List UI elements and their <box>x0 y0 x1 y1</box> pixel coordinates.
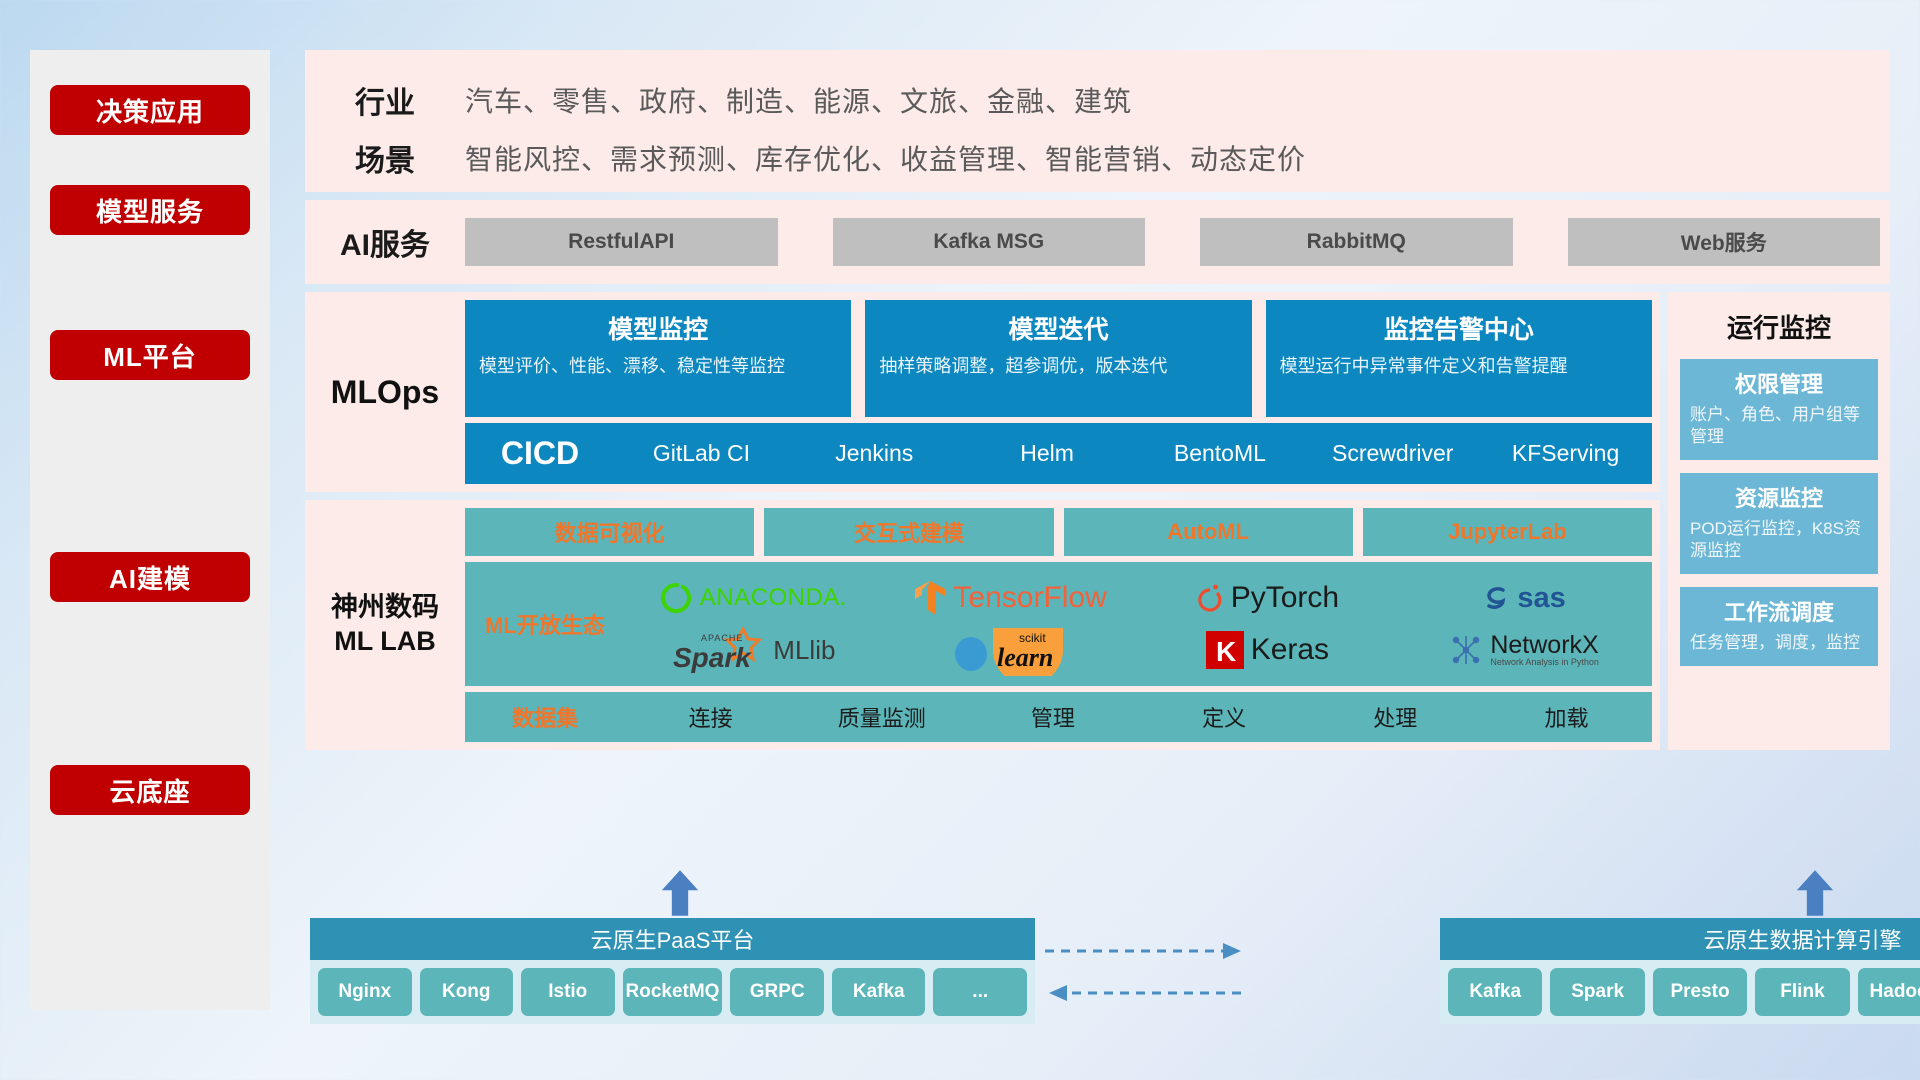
scikit-learn-icon: scikit learn <box>989 624 1067 676</box>
rail-chip-cloud-base[interactable]: 云底座 <box>50 765 250 815</box>
sas-icon <box>1481 583 1511 613</box>
ml-lab-label-line2: ML LAB <box>334 625 436 659</box>
engine-chip-kafka[interactable]: Kafka <box>1448 968 1542 1016</box>
rail-chip-ml-platform[interactable]: ML平台 <box>50 330 250 380</box>
spark-mllib-logo: APACHE Spark MLlib <box>671 627 835 673</box>
engine-chip-presto[interactable]: Presto <box>1653 968 1747 1016</box>
cicd-item-screwdriver[interactable]: Screwdriver <box>1306 442 1479 465</box>
monitor-card-workflow[interactable]: 工作流调度 任务管理，调度，监控 <box>1680 587 1878 666</box>
networkx-icon <box>1448 632 1484 668</box>
ml-ecosystem-row: ML开放生态 ANACONDA. <box>465 562 1652 686</box>
engine-chip-flink[interactable]: Flink <box>1755 968 1849 1016</box>
mllab-tab-interactive[interactable]: 交互式建模 <box>764 508 1053 556</box>
cicd-item-helm[interactable]: Helm <box>961 442 1134 465</box>
cicd-item-kfserving[interactable]: KFServing <box>1479 442 1652 465</box>
scenario-row: 场景 智能风控、需求预测、库存优化、收益管理、智能营销、动态定价 <box>305 132 1890 184</box>
anaconda-logo: ANACONDA. <box>660 581 847 615</box>
ai-service-label: AI服务 <box>305 220 465 264</box>
industry-value: 汽车、零售、政府、制造、能源、文旅、金融、建筑 <box>465 80 1132 120</box>
pytorch-logo: PyTorch <box>1195 581 1339 615</box>
dataset-label: 数据集 <box>465 701 625 733</box>
mlops-card-model-iteration[interactable]: 模型迭代 抽样策略调整，超参调优，版本迭代 <box>865 300 1251 417</box>
ai-service-web[interactable]: Web服务 <box>1568 218 1881 266</box>
cicd-item-gitlab-ci[interactable]: GitLab CI <box>615 442 788 465</box>
card-desc: 任务管理，调度，监控 <box>1690 632 1868 654</box>
scenario-value: 智能风控、需求预测、库存优化、收益管理、智能营销、动态定价 <box>465 138 1306 178</box>
card-title: 工作流调度 <box>1690 595 1868 627</box>
ai-service-restful-api[interactable]: RestfulAPI <box>465 218 778 266</box>
ai-service-kafka-msg[interactable]: Kafka MSG <box>833 218 1146 266</box>
mlops-label: MLOps <box>305 300 465 484</box>
cicd-item-jenkins[interactable]: Jenkins <box>788 442 961 465</box>
dataset-item-load[interactable]: 加载 <box>1481 701 1652 733</box>
dataset-item-define[interactable]: 定义 <box>1139 701 1310 733</box>
monitor-card-permission[interactable]: 权限管理 账户、角色、用户组等管理 <box>1680 359 1878 460</box>
dataset-item-quality[interactable]: 质量监测 <box>796 701 967 733</box>
mlops-card-model-monitoring[interactable]: 模型监控 模型评价、性能、漂移、稳定性等监控 <box>465 300 851 417</box>
paas-chip-more[interactable]: ... <box>933 968 1027 1016</box>
pytorch-icon <box>1195 581 1225 615</box>
dataset-row: 数据集 连接 质量监测 管理 定义 处理 加载 <box>465 692 1652 742</box>
engine-chip-hadoop[interactable]: Hadoop <box>1858 968 1920 1016</box>
dataset-item-manage[interactable]: 管理 <box>967 701 1138 733</box>
up-arrow-icon-right <box>1795 868 1835 918</box>
card-desc: 模型评价、性能、漂移、稳定性等监控 <box>479 354 837 378</box>
bidirectional-dashed-arrows-icon <box>1045 935 1445 1015</box>
rail-label: 云底座 <box>109 772 190 809</box>
ml-lab-band: 神州数码 ML LAB 数据可视化 交互式建模 AutoML JupyterLa… <box>305 500 1660 750</box>
anaconda-text: ANACONDA. <box>700 584 847 612</box>
cloud-paas-title: 云原生PaaS平台 <box>310 918 1035 960</box>
paas-chip-kong[interactable]: Kong <box>420 968 514 1016</box>
ai-service-rabbitmq[interactable]: RabbitMQ <box>1200 218 1513 266</box>
layer-rail: 决策应用 模型服务 ML平台 AI建模 云底座 <box>30 50 270 1010</box>
paas-chip-grpc[interactable]: GRPC <box>730 968 824 1016</box>
sas-logo: sas <box>1481 582 1565 615</box>
networkx-logo: NetworkX Network Analysis in Python <box>1448 632 1599 668</box>
keras-text: Keras <box>1251 633 1329 667</box>
svg-text:learn: learn <box>997 643 1053 672</box>
keras-icon: K <box>1205 630 1245 670</box>
rail-chip-decision[interactable]: 决策应用 <box>50 85 250 135</box>
mllab-tab-automl[interactable]: AutoML <box>1064 508 1353 556</box>
runtime-monitor-title: 运行监控 <box>1680 308 1878 345</box>
rail-label: ML平台 <box>103 337 197 374</box>
runtime-monitor-panel: 运行监控 权限管理 账户、角色、用户组等管理 资源监控 POD运行监控，K8S资… <box>1668 292 1890 750</box>
cloud-data-engine-title: 云原生数据计算引擎 <box>1440 918 1920 960</box>
scikit-learn-logo: scikit learn <box>953 624 1067 676</box>
rail-label: 模型服务 <box>96 192 204 229</box>
paas-chip-nginx[interactable]: Nginx <box>318 968 412 1016</box>
card-desc: 抽样策略调整，超参调优，版本迭代 <box>879 354 1237 378</box>
paas-chip-rocketmq[interactable]: RocketMQ <box>623 968 723 1016</box>
scenario-key: 场景 <box>305 136 465 180</box>
industry-row: 行业 汽车、零售、政府、制造、能源、文旅、金融、建筑 <box>305 74 1890 126</box>
mlops-card-alert-center[interactable]: 监控告警中心 模型运行中异常事件定义和告警提醒 <box>1266 300 1652 417</box>
svg-text:Spark: Spark <box>673 642 752 673</box>
pytorch-text: PyTorch <box>1231 581 1339 615</box>
cicd-item-bentoml[interactable]: BentoML <box>1133 442 1306 465</box>
paas-chip-istio[interactable]: Istio <box>521 968 615 1016</box>
mllab-tab-data-viz[interactable]: 数据可视化 <box>465 508 754 556</box>
networkx-text: NetworkX <box>1490 633 1599 658</box>
mllib-text: MLlib <box>773 635 835 666</box>
mllab-tab-jupyterlab[interactable]: JupyterLab <box>1363 508 1652 556</box>
card-title: 模型迭代 <box>879 310 1237 346</box>
card-title: 模型监控 <box>479 310 837 346</box>
svg-text:K: K <box>1216 636 1236 667</box>
ml-lab-label: 神州数码 ML LAB <box>305 508 465 742</box>
keras-logo: K Keras <box>1205 630 1329 670</box>
up-arrow-icon-left <box>660 868 700 918</box>
rail-chip-ai-modeling[interactable]: AI建模 <box>50 552 250 602</box>
tensorflow-icon <box>913 579 947 617</box>
ml-lab-label-line1: 神州数码 <box>331 591 439 625</box>
dataset-item-process[interactable]: 处理 <box>1310 701 1481 733</box>
spark-icon: APACHE Spark <box>671 627 767 673</box>
rail-label: AI建模 <box>109 559 191 596</box>
tensorflow-text: TensorFlow <box>953 581 1106 615</box>
card-desc: 账户、角色、用户组等管理 <box>1690 404 1868 448</box>
dataset-item-connect[interactable]: 连接 <box>625 701 796 733</box>
engine-chip-spark[interactable]: Spark <box>1550 968 1644 1016</box>
sas-text: sas <box>1517 582 1565 615</box>
card-title: 监控告警中心 <box>1280 310 1638 346</box>
card-title: 权限管理 <box>1690 367 1868 399</box>
ml-ecosystem-label: ML开放生态 <box>465 608 625 640</box>
ai-service-band: AI服务 RestfulAPI Kafka MSG RabbitMQ Web服务 <box>305 200 1890 284</box>
cicd-row: CICD GitLab CI Jenkins Helm BentoML Scre… <box>465 423 1652 484</box>
industry-key: 行业 <box>305 78 465 122</box>
cloud-native-paas-column: 云原生PaaS平台 Nginx Kong Istio RocketMQ GRPC… <box>310 918 1035 1024</box>
industry-scenario-band: 行业 汽车、零售、政府、制造、能源、文旅、金融、建筑 场景 智能风控、需求预测、… <box>305 50 1890 192</box>
anaconda-icon <box>660 581 694 615</box>
mlops-band: MLOps 模型监控 模型评价、性能、漂移、稳定性等监控 模型迭代 抽样策略调整… <box>305 292 1660 492</box>
paas-chip-kafka[interactable]: Kafka <box>832 968 926 1016</box>
monitor-card-resource[interactable]: 资源监控 POD运行监控，K8S资源监控 <box>1680 473 1878 574</box>
cloud-foundation-area: 云原生PaaS平台 Nginx Kong Istio RocketMQ GRPC… <box>305 880 1890 1030</box>
card-title: 资源监控 <box>1690 481 1868 513</box>
tensorflow-logo: TensorFlow <box>913 579 1106 617</box>
cloud-native-data-engine-column: 云原生数据计算引擎 Kafka Spark Presto Flink Hadoo… <box>1440 918 1920 1024</box>
card-desc: 模型运行中异常事件定义和告警提醒 <box>1280 354 1638 378</box>
rail-label: 决策应用 <box>96 92 204 129</box>
cicd-label: CICD <box>465 435 615 472</box>
ai-service-items: RestfulAPI Kafka MSG RabbitMQ Web服务 <box>465 218 1890 266</box>
card-desc: POD运行监控，K8S资源监控 <box>1690 518 1868 562</box>
rail-chip-model-service[interactable]: 模型服务 <box>50 185 250 235</box>
